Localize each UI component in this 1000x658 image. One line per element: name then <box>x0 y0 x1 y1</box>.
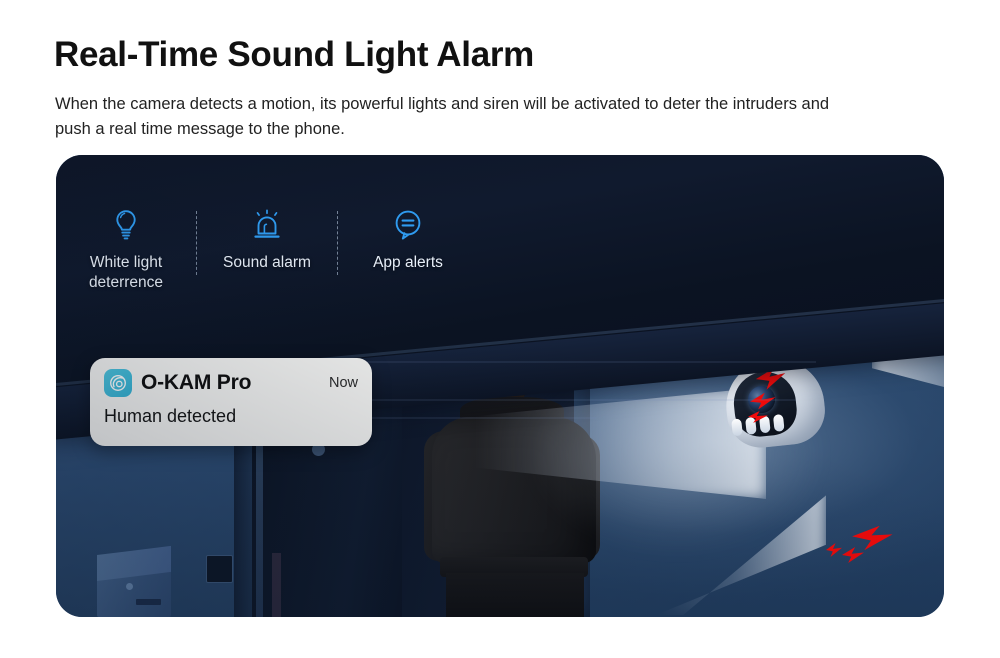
page-title: Real-Time Sound Light Alarm <box>54 33 534 77</box>
scene-vignette <box>56 155 944 617</box>
hero-image: White light deterrence Sound alarm <box>56 155 944 617</box>
promo-page: Real-Time Sound Light Alarm When the cam… <box>0 0 1000 658</box>
page-subtitle: When the camera detects a motion, its po… <box>55 92 855 142</box>
